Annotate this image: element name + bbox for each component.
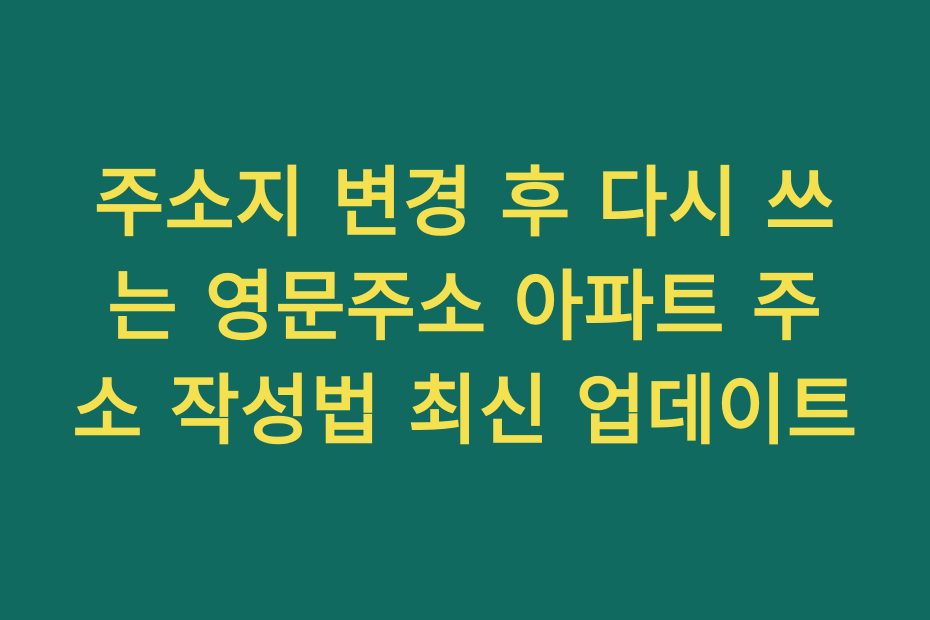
thumbnail-banner: 주소지 변경 후 다시 쓰 는 영문주소 아파트 주 소 작성법 최신 업데이트 <box>0 0 930 620</box>
title-line-3: 소 작성법 최신 업데이트 <box>70 359 860 463</box>
page-title: 주소지 변경 후 다시 쓰 는 영문주소 아파트 주 소 작성법 최신 업데이트 <box>70 151 860 463</box>
title-line-1: 주소지 변경 후 다시 쓰 <box>70 151 860 255</box>
title-line-2: 는 영문주소 아파트 주 <box>70 255 860 359</box>
